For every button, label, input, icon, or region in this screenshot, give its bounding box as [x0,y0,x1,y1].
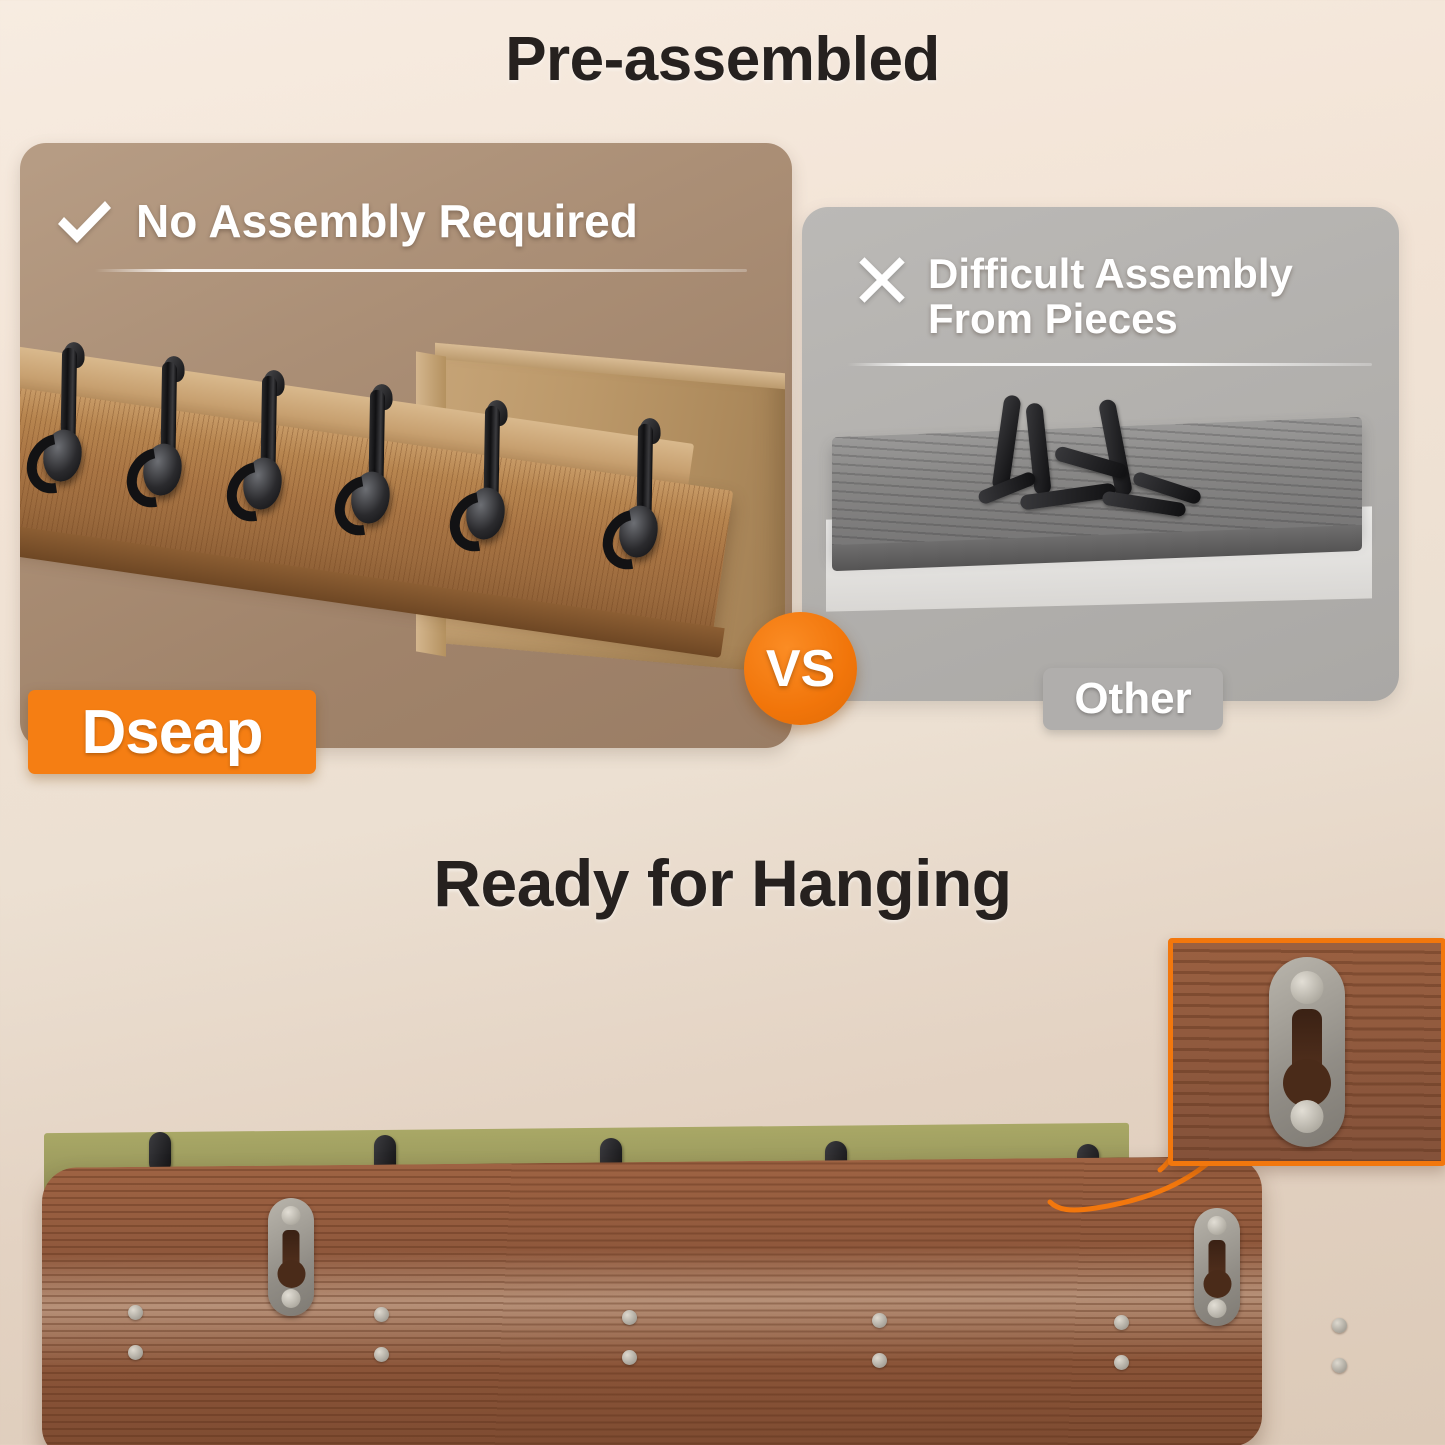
panel-divider-right [847,363,1372,366]
brand-badge-dseap: Dseap [28,690,316,774]
mounting-screw [128,1305,143,1320]
check-icon [52,191,116,255]
mounting-screw [872,1313,887,1328]
mounting-screw [1332,1318,1347,1333]
brand-badge-other: Other [1043,668,1223,730]
mounting-screw [872,1353,887,1368]
keyhole-detail-callout [1168,938,1445,1166]
comparison-panel-other: Difficult Assembly From Pieces [802,207,1399,701]
panel-headline-right: Difficult Assembly From Pieces [854,252,1293,341]
mounting-screw [622,1310,637,1325]
panel-divider-left [95,269,747,272]
panel-headline-text-right: Difficult Assembly From Pieces [928,252,1293,341]
mounting-screw [128,1345,143,1360]
panel-headline-left: No Assembly Required [52,191,638,255]
page-title-pre-assembled: Pre-assembled [0,24,1445,95]
keyhole-hanger [268,1198,314,1316]
mounting-screw [622,1350,637,1365]
vs-badge-label: VS [766,639,835,699]
photo-assembled-rack [20,338,792,748]
comparison-panel-dseap: No Assembly Required [20,143,792,748]
keyhole-hanger-detail [1269,957,1345,1147]
panel-headline-line1: Difficult Assembly [928,250,1293,297]
mounting-screw [1332,1358,1347,1373]
mounting-screw [1114,1315,1129,1330]
brand-badge-dseap-label: Dseap [81,697,262,768]
panel-headline-line2: From Pieces [928,295,1178,342]
infographic-canvas: Pre-assembled [0,0,1445,1445]
x-icon [854,252,910,308]
mounting-screw [374,1347,389,1362]
section-title-ready-for-hanging: Ready for Hanging [0,845,1445,921]
mounting-screw [374,1307,389,1322]
brand-badge-other-label: Other [1074,674,1191,724]
vs-badge: VS [744,612,857,725]
panel-headline-text-left: No Assembly Required [136,191,638,246]
mounting-screw [1114,1355,1129,1370]
photo-disassembled-pieces [802,385,1399,675]
